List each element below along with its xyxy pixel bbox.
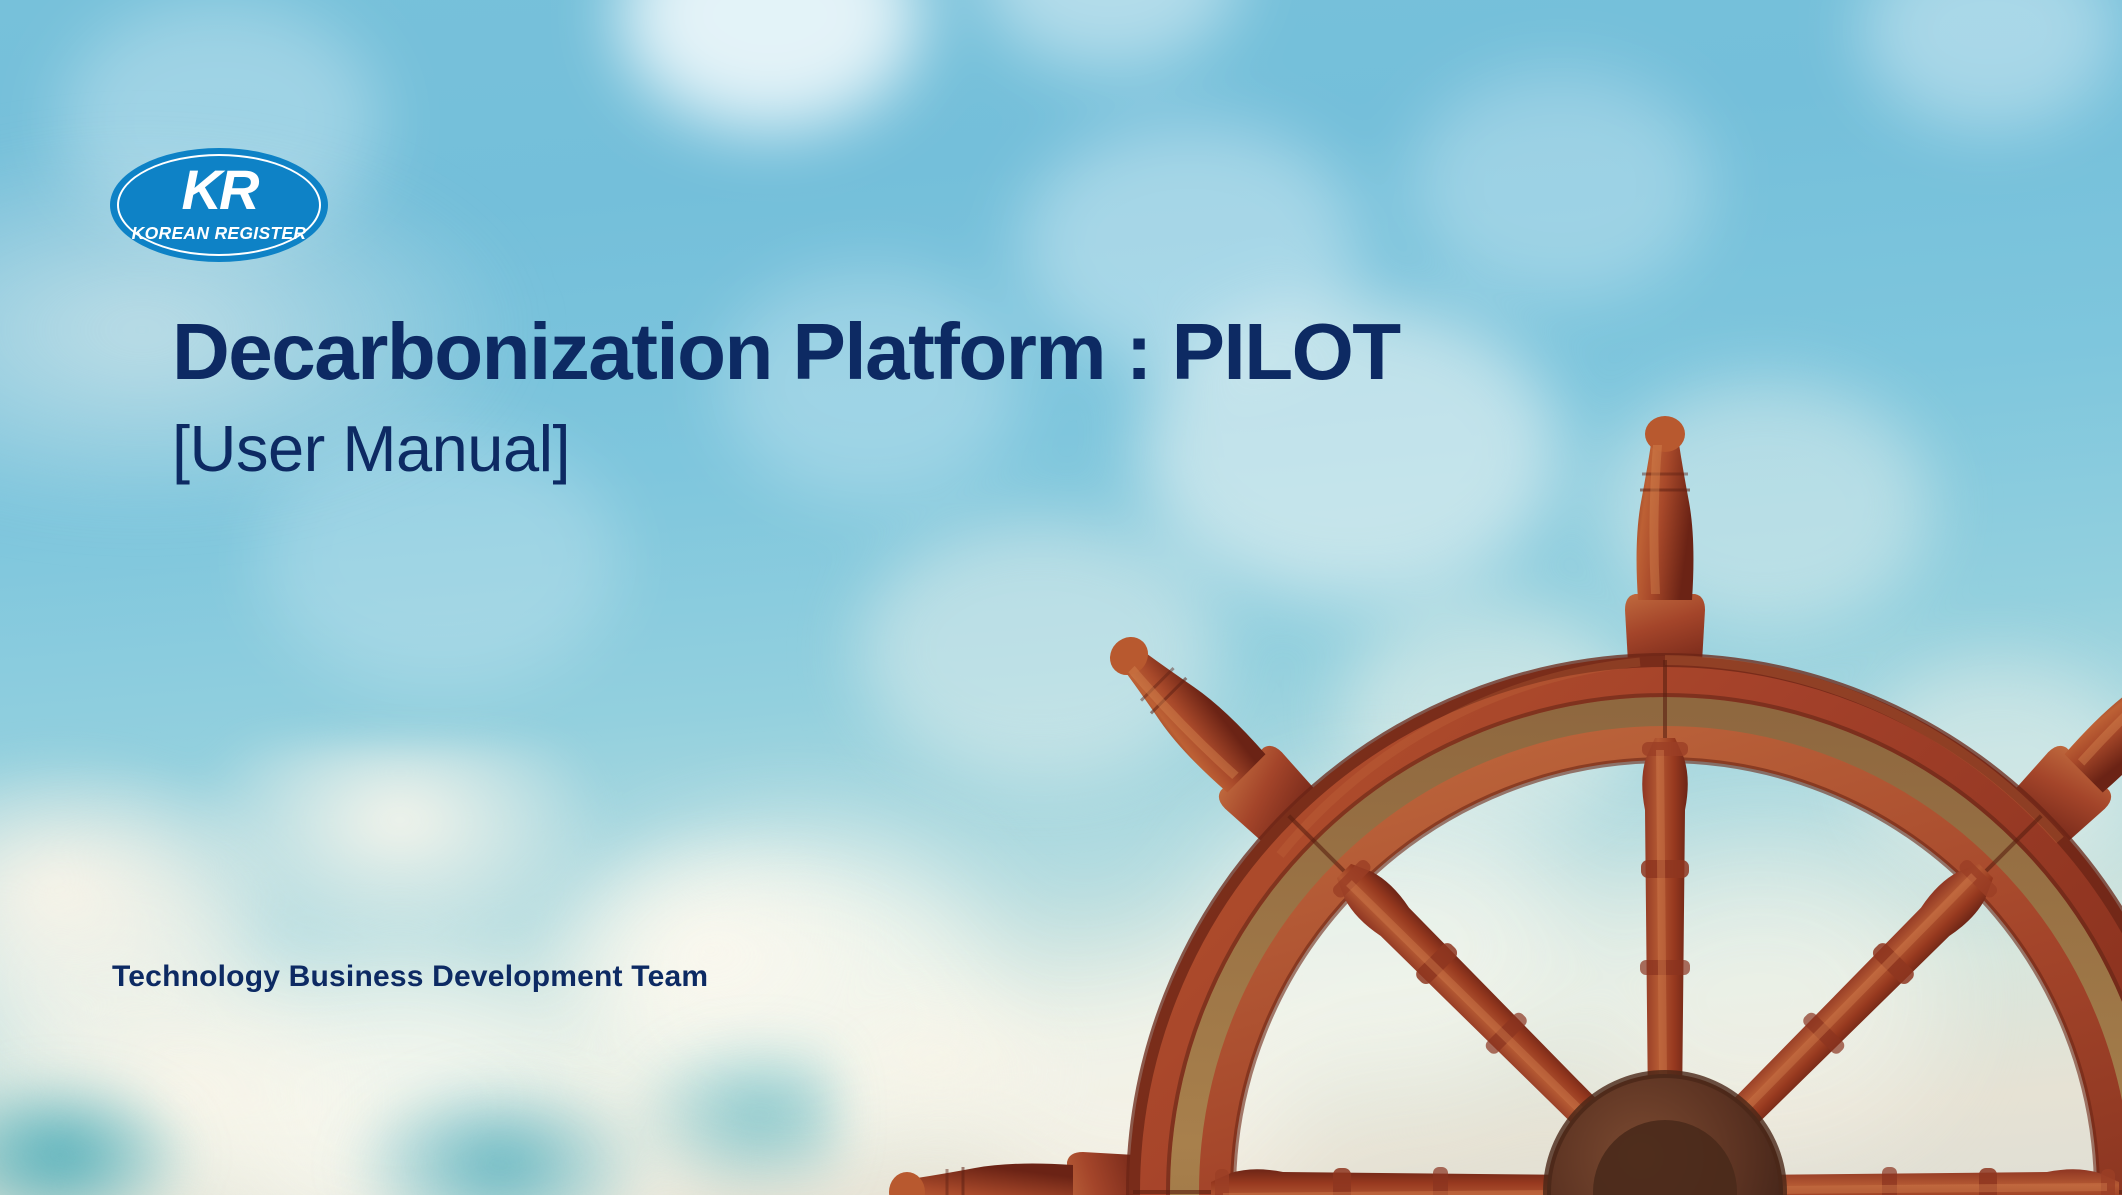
title-slide: KR KOREAN REGISTER Decarbonization Platf… bbox=[0, 0, 2122, 1195]
logo-mark-text: KR bbox=[110, 162, 328, 218]
footer-team-name: Technology Business Development Team bbox=[112, 957, 708, 997]
logo-wordmark-text: KOREAN REGISTER bbox=[110, 224, 328, 242]
korean-register-logo: KR KOREAN REGISTER bbox=[110, 148, 328, 262]
page-title: Decarbonization Platform : PILOT bbox=[172, 306, 1400, 398]
page-subtitle: [User Manual] bbox=[172, 409, 570, 489]
